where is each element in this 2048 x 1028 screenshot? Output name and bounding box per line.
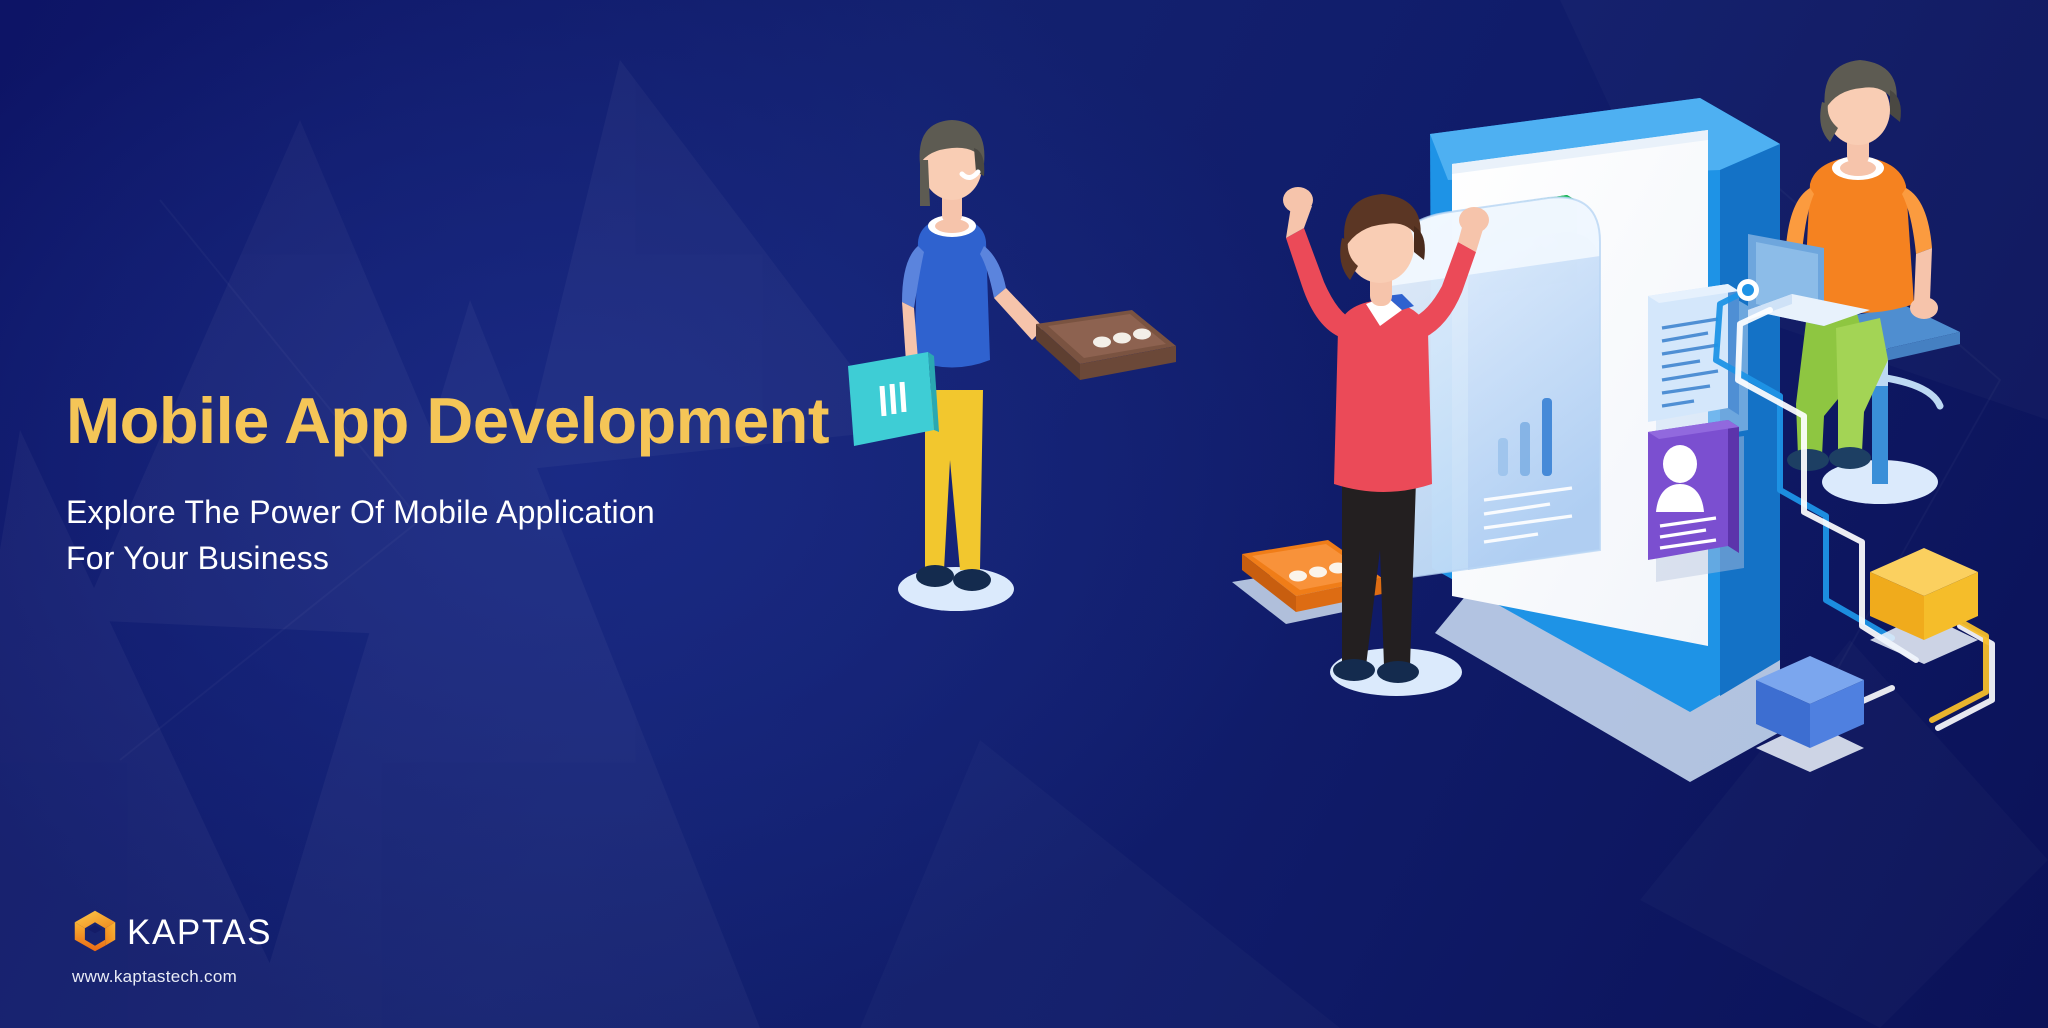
page-title: Mobile App Development [66,388,966,454]
hero-banner: Mobile App Development Explore The Power… [0,0,2048,1028]
hero-illustration [1080,60,2048,840]
brand-website-url[interactable]: www.kaptastech.com [72,967,272,987]
kaptas-hexagon-logo-icon [72,908,118,954]
hero-subtitle-line-1: Explore The Power Of Mobile Application [66,494,655,530]
hero-subtitle-line-2: For Your Business [66,536,756,581]
light-blue-text-card [1648,284,1748,444]
yellow-cube-node [1870,548,1978,664]
purple-profile-card [1648,420,1744,582]
hero-subtitle: Explore The Power Of Mobile Application … [66,490,756,581]
hero-copy: Mobile App Development Explore The Power… [66,388,966,581]
brown-card [1036,310,1176,380]
blue-cube-node [1756,656,1864,772]
brand-wordmark: KAPTAS [127,915,272,950]
brand-lockup[interactable]: KAPTAS www.kaptastech.com [72,908,272,987]
